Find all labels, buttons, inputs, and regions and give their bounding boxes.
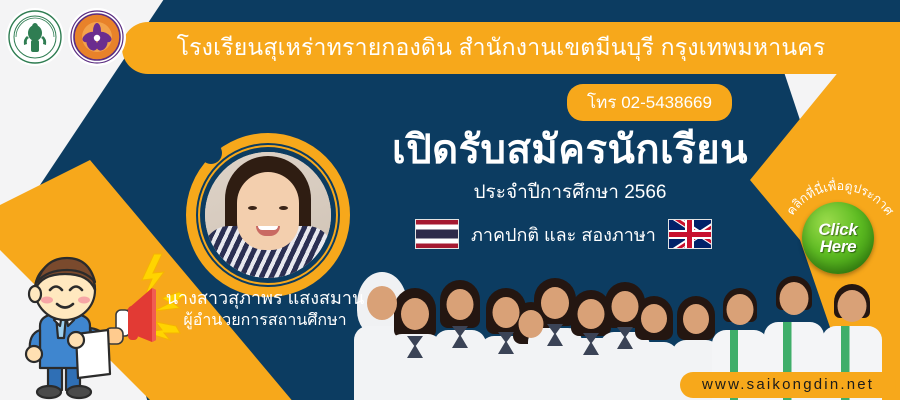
click-label-line2: Here — [820, 238, 857, 255]
program-label: ภาคปกติ และ สองภาษา — [471, 220, 656, 249]
header-title-bar: โรงเรียนสุเหร่าทรายกองดิน สำนักงานเขตมีน… — [122, 22, 900, 74]
program-row: ภาคปกติ และ สองภาษา — [415, 219, 712, 249]
bma-seal-logo — [6, 8, 64, 66]
click-here-circle[interactable]: Click Here — [802, 202, 874, 274]
website-url: www.saikongdin.net — [702, 376, 874, 393]
website-url-badge[interactable]: www.saikongdin.net — [680, 372, 896, 398]
portrait-accent-dot — [200, 142, 222, 164]
logo-group — [6, 8, 126, 66]
school-admission-banner: โรงเรียนสุเหร่าทรายกองดิน สำนักงานเขตมีน… — [0, 0, 900, 400]
students-white-uniform-photo — [352, 260, 672, 400]
page-title: โรงเรียนสุเหร่าทรายกองดิน สำนักงานเขตมีน… — [177, 30, 826, 66]
phone-label: โทร 02-5438669 — [587, 93, 712, 112]
phone-badge: โทร 02-5438669 — [567, 84, 732, 121]
thai-flag-icon — [415, 219, 459, 249]
director-name: นางสาวสุภาพร แสงสมาน — [130, 287, 400, 310]
click-here-button[interactable]: คลิกที่นี่เพื่อดูประกาศ Click Here — [790, 190, 886, 286]
uk-flag-icon — [668, 219, 712, 249]
director-title: ผู้อำนวยการสถานศึกษา — [130, 310, 400, 332]
main-headline: เปิดรับสมัครนักเรียน — [360, 128, 780, 173]
portrait-inner-ring — [198, 145, 338, 285]
click-label-line1: Click — [818, 221, 857, 238]
director-info: นางสาวสุภาพร แสงสมาน ผู้อำนวยการสถานศึกษ… — [130, 287, 400, 332]
sub-headline: ประจำปีการศึกษา 2566 — [360, 177, 780, 207]
headline-block: เปิดรับสมัครนักเรียน ประจำปีการศึกษา 256… — [360, 128, 780, 207]
director-portrait — [186, 133, 350, 297]
student-figure — [434, 280, 486, 400]
school-seal-logo — [68, 8, 126, 66]
